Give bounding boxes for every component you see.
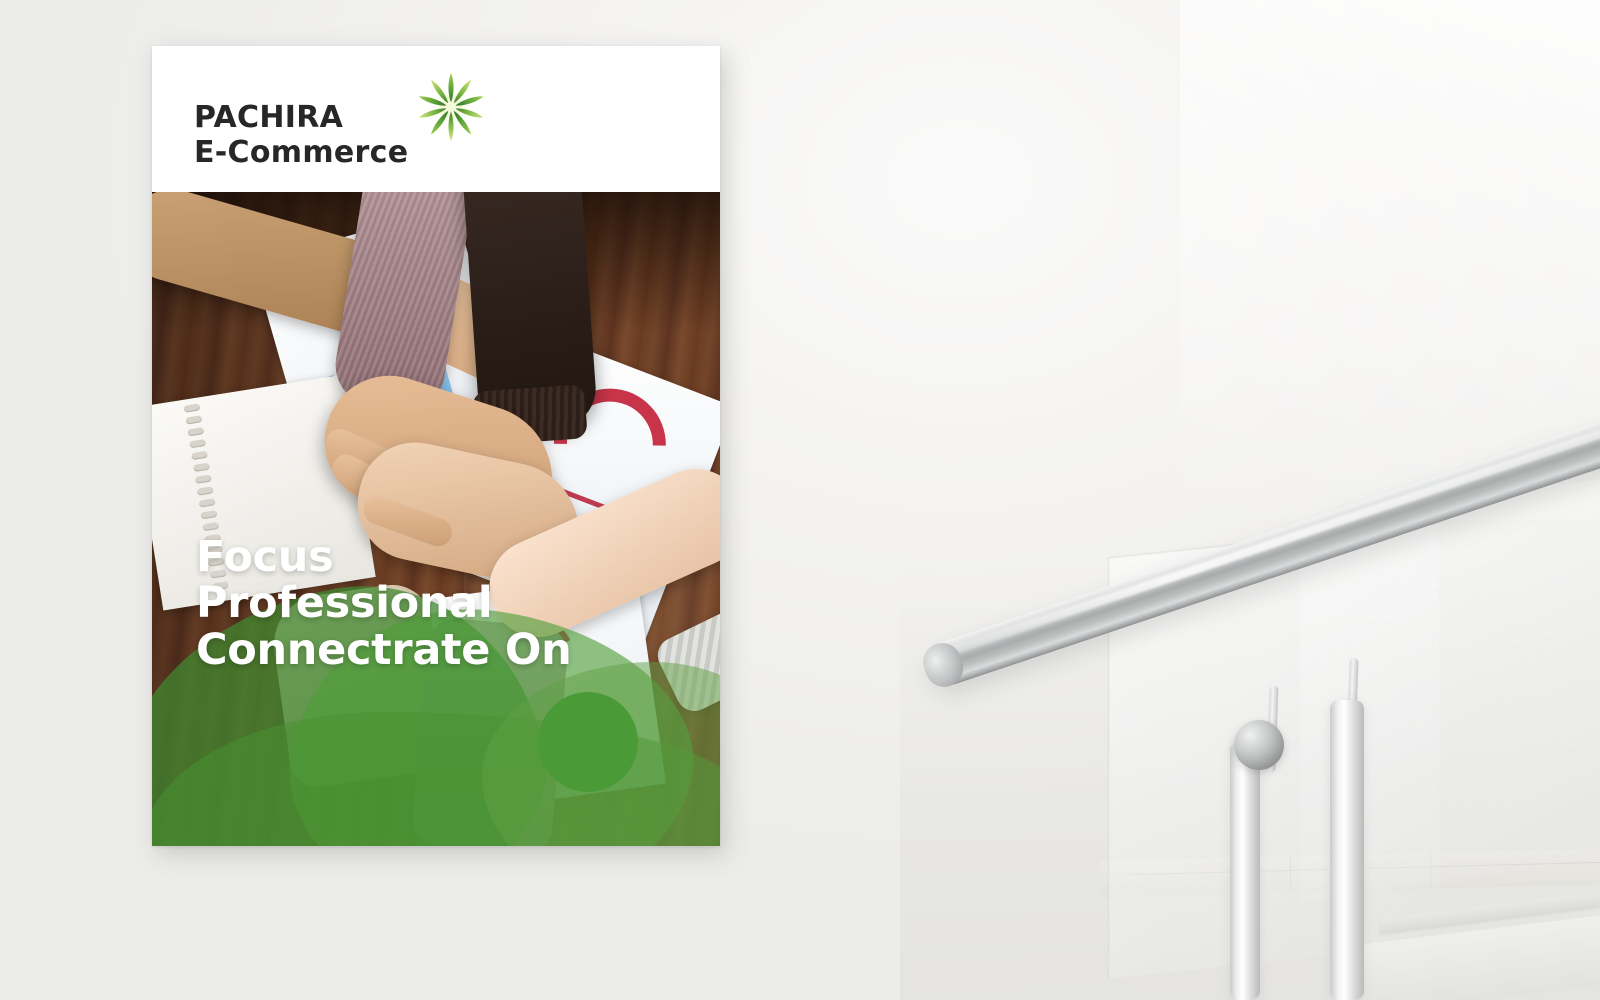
brand-lockup: PACHIRA E-Commerce bbox=[194, 74, 488, 168]
cover-headline: Focus Professional Connectrate On bbox=[196, 534, 571, 673]
cover-photograph bbox=[152, 192, 720, 846]
balustrade-post bbox=[1330, 700, 1364, 1000]
balustrade-post bbox=[1230, 742, 1260, 1000]
brand-name: PACHIRA bbox=[194, 102, 408, 133]
brand-header-band: PACHIRA E-Commerce bbox=[152, 46, 720, 192]
headline-line-1: Focus bbox=[196, 534, 571, 580]
brand-wordmark: PACHIRA E-Commerce bbox=[194, 74, 408, 168]
flower-starburst-icon bbox=[414, 70, 488, 144]
headline-line-2: Professional bbox=[196, 580, 571, 626]
scene-container: Focus Professional Connectrate On PACHIR… bbox=[0, 0, 1600, 1000]
green-accent-circle bbox=[538, 692, 638, 792]
ball-joint-connector bbox=[1234, 720, 1284, 770]
brand-subtitle: E-Commerce bbox=[194, 137, 408, 168]
headline-line-3: Connectrate On bbox=[196, 627, 571, 673]
brochure-cover[interactable]: Focus Professional Connectrate On PACHIR… bbox=[152, 46, 720, 846]
